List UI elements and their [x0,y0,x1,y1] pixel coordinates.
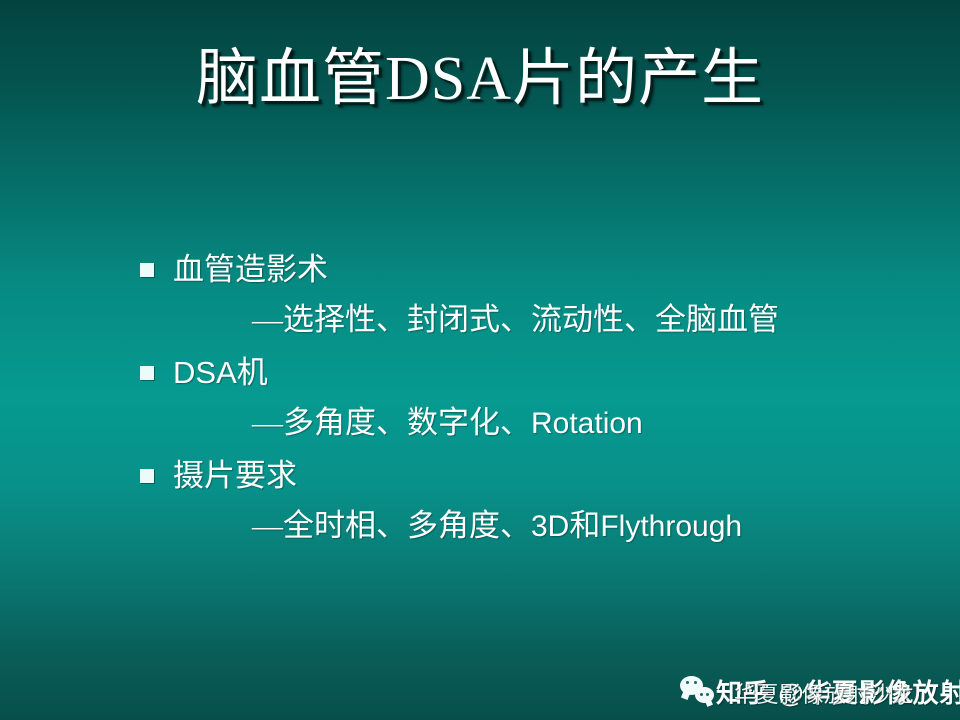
bullet-label: 血管造影术 [173,246,328,294]
bullet-subline-latin-b: Flythrough [600,510,742,543]
bullet-item-angiography: 血管造影术 [140,246,930,294]
slide-title: 脑血管DSA片的产生 [0,46,960,113]
bullet-group-3: 摄片要求 —全时相、多角度、3D和Flythrough [140,452,930,552]
bullet-label-cjk: 机 [237,355,268,390]
bullet-group-2: DSA机 —多角度、数字化、Rotation [140,349,930,449]
bullet-group-1: 血管造影术 —选择性、封闭式、流动性、全脑血管 [140,246,930,346]
wechat-icon [680,674,714,704]
square-bullet-icon [140,366,154,380]
bullet-label-latin: DSA [173,355,237,390]
bullet-subline-cjk: —多角度、数字化、 [252,405,531,440]
wechat-eye [706,693,709,696]
bullet-subline: —选择性、封闭式、流动性、全脑血管 [140,294,930,346]
watermark-secondary-text: 华夏影像放射沙龙 [734,677,914,709]
wechat-eye [686,681,689,684]
bullet-subline-text: —选择性、封闭式、流动性、全脑血管 [252,302,779,337]
square-bullet-icon [140,263,154,277]
watermark-primary-text: 知乎 @华夏影像放射沙龙 [716,673,960,710]
presentation-slide: 脑血管DSA片的产生 血管造影术 —选择性、封闭式、流动性、全脑血管 DSA机 … [0,0,960,720]
bullet-label: DSA机 [173,349,268,397]
bullet-subline-cjk-a: —全时相、多角度、 [252,508,531,543]
bullet-subline: —全时相、多角度、3D和Flythrough [140,500,930,552]
bullet-subline-latin: Rotation [531,407,643,440]
wechat-bubble-front [695,687,714,703]
wechat-eye [700,693,703,696]
bullet-item-dsa-machine: DSA机 [140,349,930,397]
watermark: 知乎 @华夏影像放射沙龙 华夏影像放射沙龙 [680,666,946,712]
slide-body-list: 血管造影术 —选择性、封闭式、流动性、全脑血管 DSA机 —多角度、数字化、Ro… [140,246,930,555]
bullet-label: 摄片要求 [173,452,297,500]
wechat-bubble-back [680,676,703,695]
square-bullet-icon [140,469,154,483]
watermark-text-stack: 知乎 @华夏影像放射沙龙 华夏影像放射沙龙 [716,668,946,710]
bullet-subline: —多角度、数字化、Rotation [140,397,930,449]
wechat-eye [694,681,697,684]
bullet-subline-latin-a: 3D [531,510,569,543]
bullet-item-imaging-requirements: 摄片要求 [140,452,930,500]
bullet-subline-cjk-b: 和 [569,508,600,543]
